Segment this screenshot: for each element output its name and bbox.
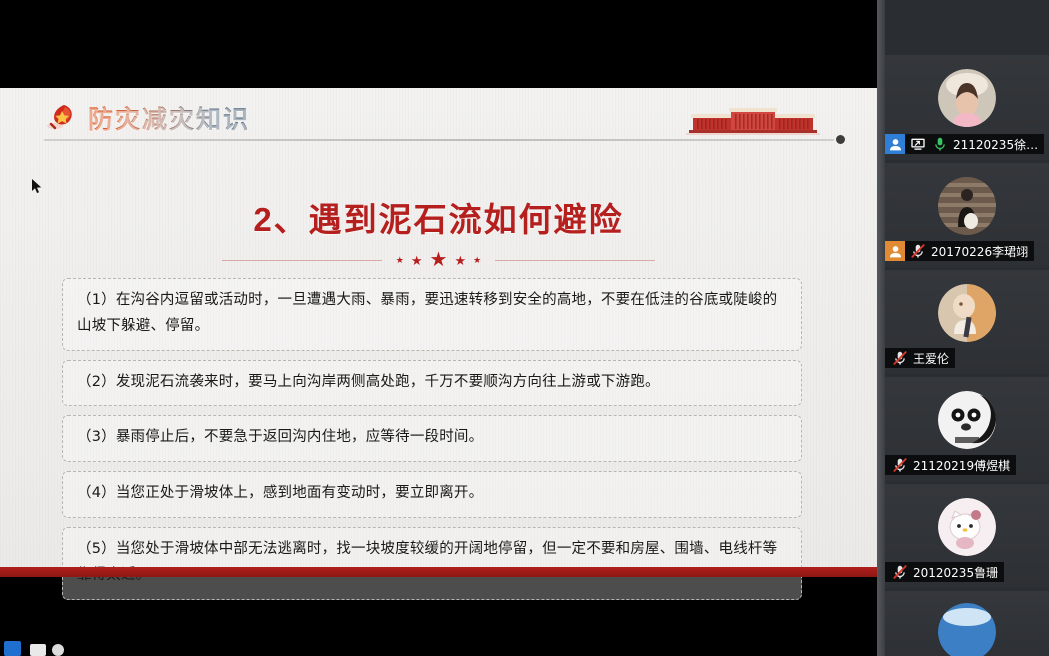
circle-icon[interactable] (52, 644, 64, 656)
avatar (938, 391, 996, 449)
star-icon: ★ (454, 254, 466, 267)
participant-name: 王爱伦 (913, 350, 949, 367)
slide-point-box: （1）在沟谷内逗留或活动时，一旦遭遇大雨、暴雨，要迅速转移到安全的高地，不要在低… (62, 278, 802, 351)
microphone-muted-icon (891, 456, 909, 474)
avatar (938, 603, 996, 656)
slide-point-text: （3）暴雨停止后，不要急于返回沟内住地，应等待一段时间。 (77, 425, 787, 451)
app-blue-icon[interactable] (4, 641, 21, 656)
slide-points-list: （1）在沟谷内逗留或活动时，一旦遭遇大雨、暴雨，要迅速转移到安全的高地，不要在低… (62, 278, 802, 609)
disaster-prevention-emblem-icon (46, 102, 78, 132)
slide-point-text: （2）发现泥石流袭来时，要马上向沟岸两侧高处跑，千万不要顺沟方向往上游或下游跑。 (77, 370, 787, 396)
star-icon: ★ (396, 256, 404, 265)
mouse-pointer-icon (32, 179, 43, 194)
microphone-muted-icon (891, 563, 909, 581)
slide-point-text: （4）当您正处于滑坡体上，感到地面有变动时，要立即离开。 (77, 481, 787, 507)
window-icon[interactable] (30, 644, 46, 656)
participant-namebar: 21120235徐… (885, 134, 1044, 154)
participant-tile[interactable]: 王爱伦 (885, 270, 1049, 374)
participant-tile[interactable] (885, 591, 1049, 656)
divider-stars: ★ ★ ★ ★ ★ (382, 250, 495, 270)
participant-tile[interactable]: 21120219傅煜棋 (885, 377, 1049, 481)
host-person-icon (885, 134, 905, 154)
participant-namebar: 20120235鲁珊 (885, 562, 1004, 582)
participant-tile[interactable]: 20170226李珺翊 (885, 163, 1049, 267)
presentation-slide: 防灾减灾知识 (0, 88, 877, 577)
slide-point-text: （1）在沟谷内逗留或活动时，一旦遭遇大雨、暴雨，要迅速转移到安全的高地，不要在低… (77, 288, 787, 340)
rail-divider (877, 0, 885, 656)
header-line-endpoint-dot (836, 135, 845, 144)
star-divider: ★ ★ ★ ★ ★ (0, 250, 877, 270)
person-icon (885, 241, 905, 261)
participant-namebar: 21120219傅煜棋 (885, 455, 1016, 475)
slide-point-box: （4）当您正处于滑坡体上，感到地面有变动时，要立即离开。 (62, 471, 802, 518)
taskbar[interactable] (0, 640, 877, 656)
avatar (938, 498, 996, 556)
header-divider-line (44, 139, 834, 141)
microphone-muted-icon (891, 349, 909, 367)
divider-line-left (222, 260, 382, 261)
slide-header-title: 防灾减灾知识 (88, 100, 250, 136)
participant-namebar: 20170226李珺翊 (885, 241, 1034, 261)
microphone-on-icon (931, 135, 949, 153)
participant-video (885, 591, 1049, 656)
slide-point-box: （5）当您处于滑坡体中部无法逃离时，找一块坡度较缓的开阔地停留，但一定不要和房屋… (62, 527, 802, 600)
microphone-muted-icon (909, 242, 927, 260)
slide-title: 2、遇到泥石流如何避险 (0, 193, 877, 241)
star-icon: ★ (430, 250, 448, 270)
tiananmen-building-icon (683, 102, 823, 138)
participant-name: 20170226李珺翊 (931, 243, 1028, 260)
avatar (938, 177, 996, 235)
avatar (938, 284, 996, 342)
slide-point-text: （5）当您处于滑坡体中部无法逃离时，找一块坡度较缓的开阔地停留，但一定不要和房屋… (77, 537, 787, 589)
participant-name: 21120235徐… (953, 136, 1038, 153)
participant-name: 21120219傅煜棋 (913, 457, 1010, 474)
participant-tile[interactable]: 21120235徐… (885, 55, 1049, 160)
participant-tile[interactable]: 20120235鲁珊 (885, 484, 1049, 588)
screen-share-icon (909, 135, 927, 153)
avatar (938, 69, 996, 127)
star-icon: ★ (473, 256, 481, 265)
slide-point-box: （2）发现泥石流袭来时，要马上向沟岸两侧高处跑，千万不要顺沟方向往上游或下游跑。 (62, 360, 802, 407)
slide-point-box: （3）暴雨停止后，不要急于返回沟内住地，应等待一段时间。 (62, 415, 802, 462)
slide-footer-bar (0, 567, 877, 577)
participant-name: 20120235鲁珊 (913, 564, 998, 581)
divider-line-right (495, 260, 655, 261)
slide-header: 防灾减灾知识 (0, 88, 877, 148)
participant-namebar: 王爱伦 (885, 348, 955, 368)
shared-screen-stage: 防灾减灾知识 (0, 0, 877, 656)
star-icon: ★ (411, 254, 423, 267)
screen-root: 防灾减灾知识 (0, 0, 1049, 656)
